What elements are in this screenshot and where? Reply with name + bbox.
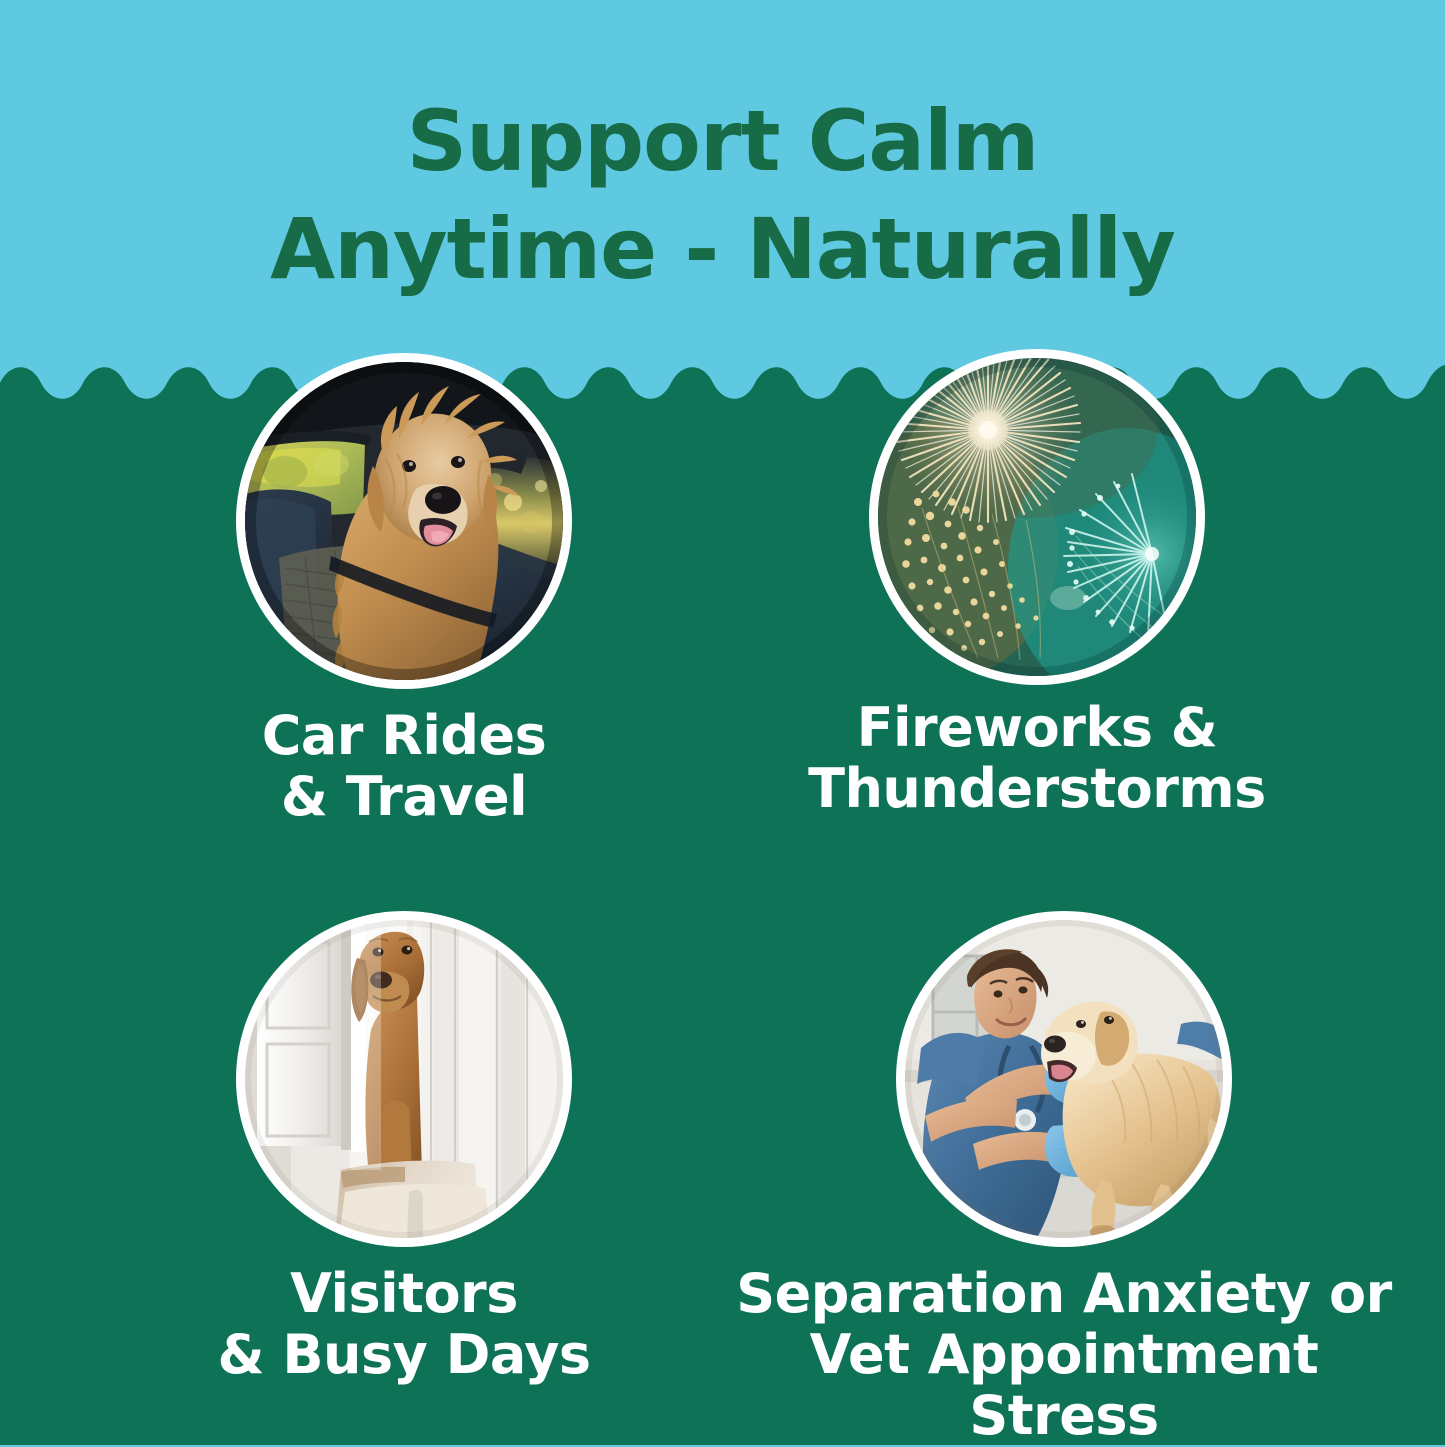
dog-in-car-illustration [245, 362, 563, 680]
fireworks-photo [878, 358, 1196, 676]
fireworks-photo-ring [869, 349, 1205, 685]
benefits-grid: Car Rides & Travel [0, 0, 1445, 1445]
vet-exam-illustration [905, 920, 1223, 1238]
dog-at-door-photo [245, 920, 563, 1238]
card-visitors-label: Visitors & Busy Days [186, 1263, 622, 1385]
dog-at-door-photo-ring [236, 911, 572, 1247]
vet-exam-photo [905, 920, 1223, 1238]
card-vet-label: Separation Anxiety or Vet Appointment St… [716, 1263, 1412, 1446]
card-fireworks-label: Fireworks & Thunderstorms [759, 697, 1315, 819]
vet-exam-photo-ring [896, 911, 1232, 1247]
card-car-rides: Car Rides & Travel [236, 353, 572, 823]
fireworks-illustration [878, 358, 1196, 676]
card-fireworks: Fireworks & Thunderstorms [869, 349, 1205, 829]
dog-in-car-photo-ring [236, 353, 572, 689]
card-vet: Separation Anxiety or Vet Appointment St… [896, 911, 1232, 1401]
dog-at-door-illustration [245, 920, 563, 1238]
card-visitors: Visitors & Busy Days [236, 911, 572, 1401]
card-car-rides-label: Car Rides & Travel [206, 705, 602, 827]
dog-in-car-photo [245, 362, 563, 680]
